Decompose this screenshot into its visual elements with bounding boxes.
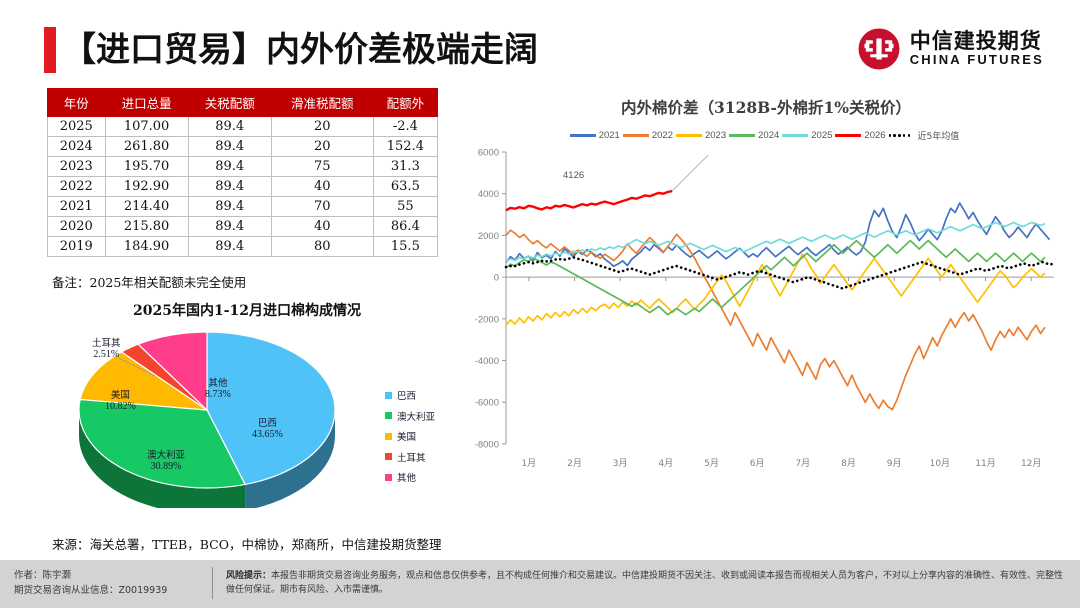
pie-label-美国: 美国10.82% bbox=[105, 390, 136, 413]
y-tick-label: -8000 bbox=[475, 439, 499, 450]
table-cell: 40 bbox=[271, 217, 373, 237]
logo-text: 中信建投期货 CHINA FUTURES bbox=[910, 30, 1044, 68]
line-legend-item-2023[interactable]: 2023 bbox=[676, 130, 726, 141]
x-tick-label: 8月 bbox=[841, 458, 856, 469]
pie-legend-item-澳大利亚[interactable]: 澳大利亚 bbox=[385, 409, 435, 423]
table-cell: 192.90 bbox=[105, 177, 188, 197]
pie-legend-item-其他[interactable]: 其他 bbox=[385, 470, 435, 484]
table-cell: 75 bbox=[271, 157, 373, 177]
pie-label-巴西: 巴西43.65% bbox=[252, 418, 283, 441]
import-composition-pie-chart: 2025年国内1-12月进口棉构成情况 巴西43.65%澳大利亚30.89%美国… bbox=[47, 300, 487, 515]
x-tick-label: 9月 bbox=[887, 458, 902, 469]
line-chart-canvas: 6000400020000-2000-4000-6000-80001月2月3月4… bbox=[466, 144, 1066, 494]
pie-label-value: 43.65% bbox=[252, 429, 283, 441]
line-legend-item-2024[interactable]: 2024 bbox=[729, 130, 779, 141]
table-cell: 184.90 bbox=[105, 237, 188, 257]
pie-legend-item-美国[interactable]: 美国 bbox=[385, 429, 435, 443]
line-legend-item-2026[interactable]: 2026 bbox=[835, 130, 885, 141]
logo-chinese-name: 中信建投期货 bbox=[910, 30, 1044, 54]
line-chart-title: 内外棉价差（3128B-外棉折1%关税价） bbox=[466, 96, 1066, 118]
table-cell: 107.00 bbox=[105, 117, 188, 137]
table-row: 2019184.9089.48015.5 bbox=[48, 237, 438, 257]
x-tick-label: 6月 bbox=[750, 458, 765, 469]
pie-label-value: 10.82% bbox=[105, 401, 136, 413]
annotation-leader-line bbox=[672, 155, 708, 191]
table-row: 2023195.7089.47531.3 bbox=[48, 157, 438, 177]
line-legend-label: 2021 bbox=[599, 130, 620, 141]
table-col-header-0: 年份 bbox=[48, 89, 106, 117]
y-tick-label: 0 bbox=[494, 273, 499, 284]
table-cell: 2019 bbox=[48, 237, 106, 257]
pie-label-其他: 其他8.73% bbox=[205, 378, 231, 401]
x-tick-label: 10月 bbox=[930, 458, 950, 469]
table-header-row: 年份进口总量关税配额滑准税配额配额外 bbox=[48, 89, 438, 117]
line-legend-swatch bbox=[570, 134, 596, 137]
line-legend-swatch bbox=[623, 134, 649, 137]
pie-chart-title: 2025年国内1-12月进口棉构成情况 bbox=[47, 300, 447, 320]
import-quota-table: 年份进口总量关税配额滑准税配额配额外 2025107.0089.420-2.42… bbox=[47, 88, 438, 257]
table-row: 2022192.9089.44063.5 bbox=[48, 177, 438, 197]
line-legend-item-近5年均值[interactable]: 近5年均值 bbox=[889, 129, 960, 142]
page-header: 【进口贸易】内外价差极端走阔 中信建投期货 CHINA FUTURES bbox=[0, 0, 1080, 86]
pie-legend-label: 其他 bbox=[397, 470, 416, 484]
risk-text: 本报告非期货交易咨询业务服务，观点和信息仅供参考，且不构成任何推介和交易建议。中… bbox=[226, 571, 1063, 595]
table-row: 2021214.4089.47055 bbox=[48, 197, 438, 217]
table-cell: 261.80 bbox=[105, 137, 188, 157]
table-cell: 89.4 bbox=[188, 117, 271, 137]
table-cell: 20 bbox=[271, 117, 373, 137]
table-cell: 40 bbox=[271, 177, 373, 197]
pie-legend-label: 土耳其 bbox=[397, 450, 426, 464]
pie-legend-item-土耳其[interactable]: 土耳其 bbox=[385, 450, 435, 464]
pie-legend-label: 巴西 bbox=[397, 388, 416, 402]
pie-label-name: 巴西 bbox=[252, 418, 283, 429]
table-cell: 152.4 bbox=[373, 137, 437, 157]
y-tick-label: -2000 bbox=[475, 314, 499, 325]
table-cell: 89.4 bbox=[188, 137, 271, 157]
table-cell: 15.5 bbox=[373, 237, 437, 257]
pie-legend-label: 澳大利亚 bbox=[397, 409, 435, 423]
line-legend-item-2025[interactable]: 2025 bbox=[782, 130, 832, 141]
logo-english-name: CHINA FUTURES bbox=[910, 53, 1044, 68]
pie-legend: 巴西澳大利亚美国土耳其其他 bbox=[385, 388, 435, 491]
footer-author: 作者：陈宇灏 期货交易咨询从业信息：Z0019939 bbox=[14, 569, 167, 598]
y-tick-label: 2000 bbox=[478, 231, 499, 242]
table-cell: 89.4 bbox=[188, 197, 271, 217]
pie-label-value: 2.51% bbox=[92, 349, 121, 361]
line-legend-label: 2024 bbox=[758, 130, 779, 141]
pie-label-name: 土耳其 bbox=[92, 338, 121, 349]
table-cell: 2020 bbox=[48, 217, 106, 237]
table-col-header-4: 配额外 bbox=[373, 89, 437, 117]
pie-label-value: 30.89% bbox=[147, 461, 185, 473]
y-tick-label: 4000 bbox=[478, 189, 499, 200]
table-cell: 89.4 bbox=[188, 177, 271, 197]
pie-label-土耳其: 土耳其2.51% bbox=[92, 338, 121, 361]
line-legend-label: 2025 bbox=[811, 130, 832, 141]
table-row: 2025107.0089.420-2.4 bbox=[48, 117, 438, 137]
table-cell: 31.3 bbox=[373, 157, 437, 177]
line-legend-swatch bbox=[729, 134, 755, 137]
table-row: 2020215.8089.44086.4 bbox=[48, 217, 438, 237]
table-cell: 80 bbox=[271, 237, 373, 257]
table-cell: -2.4 bbox=[373, 117, 437, 137]
pie-legend-swatch bbox=[385, 433, 392, 440]
line-legend-label: 2023 bbox=[705, 130, 726, 141]
line-legend-label: 近5年均值 bbox=[918, 129, 960, 142]
table-cell: 70 bbox=[271, 197, 373, 217]
pie-label-name: 澳大利亚 bbox=[147, 450, 185, 461]
line-series-2026 bbox=[506, 191, 672, 210]
line-legend-label: 2026 bbox=[864, 130, 885, 141]
citic-emblem-icon bbox=[857, 27, 901, 71]
y-tick-label: 6000 bbox=[478, 147, 499, 158]
page-title: 【进口贸易】内外价差极端走阔 bbox=[62, 22, 538, 71]
table-cell: 86.4 bbox=[373, 217, 437, 237]
table-cell: 2021 bbox=[48, 197, 106, 217]
pie-label-value: 8.73% bbox=[205, 389, 231, 401]
pie-legend-swatch bbox=[385, 412, 392, 419]
company-logo: 中信建投期货 CHINA FUTURES bbox=[857, 26, 1044, 72]
x-tick-label: 3月 bbox=[613, 458, 628, 469]
x-tick-label: 1月 bbox=[521, 458, 536, 469]
risk-label: 风险提示： bbox=[226, 571, 271, 581]
annotation-4126: 4126 bbox=[563, 170, 584, 181]
pie-legend-item-巴西[interactable]: 巴西 bbox=[385, 388, 435, 402]
pie-label-澳大利亚: 澳大利亚30.89% bbox=[147, 450, 185, 473]
pie-legend-swatch bbox=[385, 474, 392, 481]
pie-label-name: 美国 bbox=[105, 390, 136, 401]
title-accent-bar bbox=[44, 27, 56, 73]
pie-legend-swatch bbox=[385, 453, 392, 460]
table-cell: 89.4 bbox=[188, 237, 271, 257]
line-legend-dotted-swatch bbox=[889, 134, 915, 137]
table-cell: 2025 bbox=[48, 117, 106, 137]
line-legend-item-2022[interactable]: 2022 bbox=[623, 130, 673, 141]
x-tick-label: 12月 bbox=[1021, 458, 1041, 469]
table-cell: 2023 bbox=[48, 157, 106, 177]
table-cell: 20 bbox=[271, 137, 373, 157]
table-cell: 2024 bbox=[48, 137, 106, 157]
line-legend-swatch bbox=[782, 134, 808, 137]
table-cell: 215.80 bbox=[105, 217, 188, 237]
x-tick-label: 11月 bbox=[975, 458, 995, 469]
pie-legend-label: 美国 bbox=[397, 429, 416, 443]
pie-legend-swatch bbox=[385, 392, 392, 399]
source-line: 来源：海关总署，TTEB，BCO，中棉协，郑商所，中信建投期货整理 bbox=[52, 534, 441, 553]
line-legend-item-2021[interactable]: 2021 bbox=[570, 130, 620, 141]
line-legend-label: 2022 bbox=[652, 130, 673, 141]
table-cell: 63.5 bbox=[373, 177, 437, 197]
footer-risk-disclaimer: 风险提示：本报告非期货交易咨询业务服务，观点和信息仅供参考，且不构成任何推介和交… bbox=[226, 569, 1064, 598]
table-cell: 89.4 bbox=[188, 157, 271, 177]
line-legend-swatch bbox=[835, 134, 861, 137]
table-cell: 2022 bbox=[48, 177, 106, 197]
x-tick-label: 2月 bbox=[567, 458, 582, 469]
y-tick-label: -6000 bbox=[475, 398, 499, 409]
table-col-header-2: 关税配额 bbox=[188, 89, 271, 117]
price-spread-line-chart: 内外棉价差（3128B-外棉折1%关税价） 202120222023202420… bbox=[466, 92, 1066, 500]
table-cell: 89.4 bbox=[188, 217, 271, 237]
y-tick-label: -4000 bbox=[475, 356, 499, 367]
page-footer: 作者：陈宇灏 期货交易咨询从业信息：Z0019939 风险提示：本报告非期货交易… bbox=[0, 560, 1080, 608]
author-license: 期货交易咨询从业信息：Z0019939 bbox=[14, 584, 167, 599]
table-row: 2024261.8089.420152.4 bbox=[48, 137, 438, 157]
pie-label-name: 其他 bbox=[205, 378, 231, 389]
footer-divider bbox=[212, 567, 213, 599]
table-cell: 214.40 bbox=[105, 197, 188, 217]
table-cell: 55 bbox=[373, 197, 437, 217]
x-tick-label: 5月 bbox=[704, 458, 719, 469]
x-tick-label: 7月 bbox=[795, 458, 810, 469]
table-col-header-1: 进口总量 bbox=[105, 89, 188, 117]
author-name: 作者：陈宇灏 bbox=[14, 569, 167, 584]
table-cell: 195.70 bbox=[105, 157, 188, 177]
table-col-header-3: 滑准税配额 bbox=[271, 89, 373, 117]
line-chart-legend: 202120222023202420252026近5年均值 bbox=[466, 129, 1066, 142]
x-tick-label: 4月 bbox=[658, 458, 673, 469]
table-note: 备注：2025年相关配额未完全使用 bbox=[52, 272, 246, 291]
line-legend-swatch bbox=[676, 134, 702, 137]
